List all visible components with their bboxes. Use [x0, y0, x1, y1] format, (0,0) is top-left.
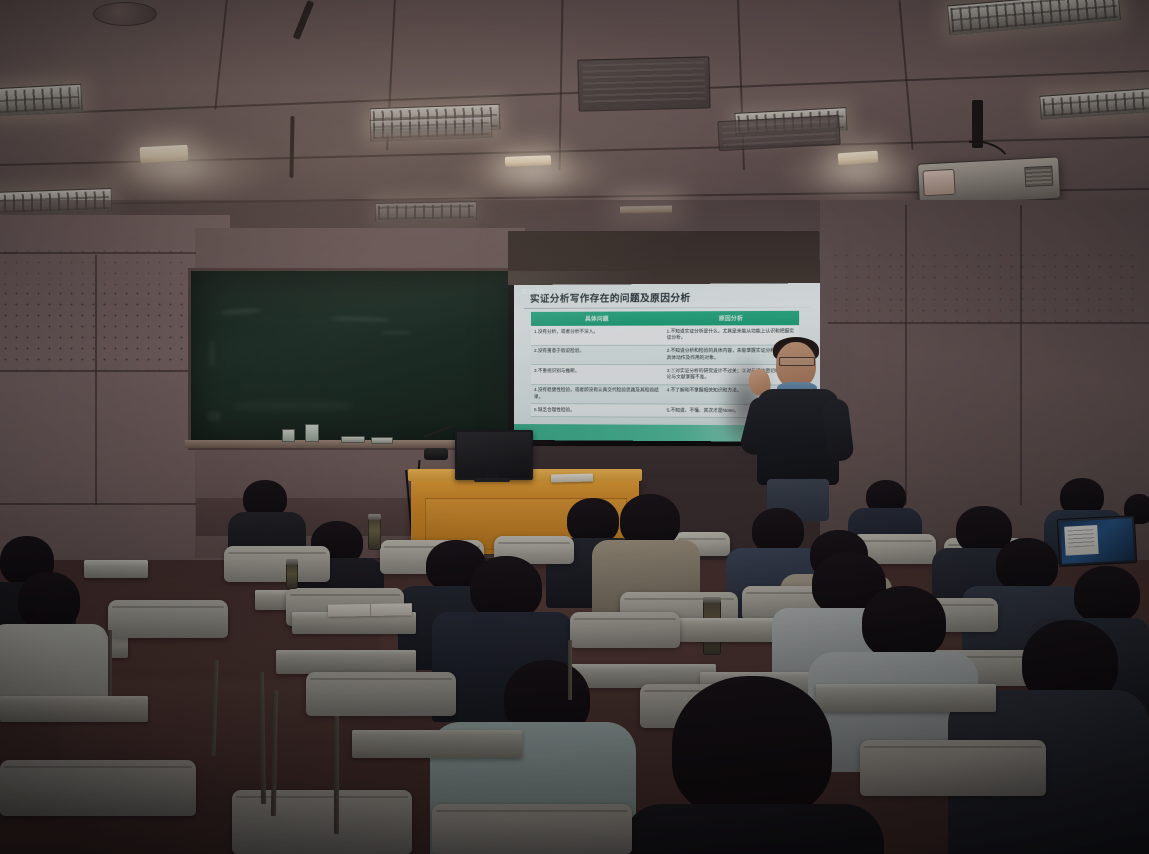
laptop-screen — [1060, 518, 1134, 564]
seat-back — [570, 612, 680, 648]
table-header-cause: 原因分析 — [664, 311, 800, 326]
ceiling-air-vent — [717, 115, 840, 151]
cell-problem: 2.没有重意于假说检验。 — [531, 345, 664, 365]
chalkboard — [188, 268, 516, 450]
bottle-icon — [286, 563, 298, 589]
laptop-icon — [1057, 515, 1137, 567]
laptop-document-window — [1064, 525, 1099, 555]
seat-back — [232, 790, 412, 854]
bottle-icon — [368, 518, 381, 550]
slide-title: 实证分析写作存在的问题及原因分析 — [530, 290, 691, 305]
ceiling-light-panel — [947, 0, 1121, 35]
open-notebook — [328, 603, 412, 616]
ceiling-light-panel — [370, 116, 493, 142]
glasses-icon — [779, 357, 815, 366]
audience-head — [470, 556, 542, 620]
seat-back — [224, 546, 330, 582]
ceiling-rod — [289, 116, 294, 178]
audience-head — [996, 538, 1058, 592]
cell-problem: 4.没有稳健性检验，或者即没有认真交代检验思路及其检验结果。 — [531, 384, 664, 404]
blackboard-eraser — [371, 437, 393, 444]
slide-title-divider — [524, 307, 811, 309]
desk — [0, 696, 148, 722]
chalk-box — [305, 424, 319, 442]
acoustic-panel-perforation — [830, 250, 1140, 322]
desk — [352, 730, 522, 758]
microphone-icon — [424, 448, 448, 460]
projector-vent — [1024, 166, 1053, 187]
audience-body — [622, 804, 884, 854]
blackboard-eraser — [341, 436, 365, 443]
seat-back — [432, 804, 632, 854]
desk — [816, 684, 996, 712]
table-header-problem: 具体问题 — [531, 311, 664, 326]
desk — [84, 560, 148, 578]
seat-back — [306, 672, 456, 716]
table-header-row: 具体问题 原因分析 — [531, 311, 799, 326]
desk — [276, 650, 416, 674]
chalk-box — [282, 429, 295, 442]
chair-leg — [334, 716, 339, 834]
audience-head — [18, 572, 80, 630]
ceiling-air-vent — [577, 56, 710, 111]
papers-on-lectern — [551, 473, 593, 482]
ceiling-speaker-icon — [93, 2, 157, 26]
projector-lens-icon — [922, 169, 955, 197]
audience-head — [1074, 566, 1140, 624]
lecture-hall-photo: 实证分析写作存在的问题及原因分析 具体问题 原因分析 1.没有分析，或者分析不深… — [0, 0, 1149, 854]
cell-problem: 1.没有分析，或者分析不深入。 — [531, 326, 664, 345]
chair-leg — [108, 630, 112, 696]
monitor-base — [474, 478, 510, 482]
presenter — [729, 337, 865, 519]
seat-back — [860, 740, 1046, 796]
projector-icon — [917, 156, 1061, 205]
audience-head — [672, 676, 832, 818]
slide-footer-label: 实证分析 — [522, 288, 546, 296]
monitor-icon — [455, 430, 533, 480]
ceiling-light-panel — [1039, 88, 1149, 120]
chair-leg — [568, 640, 572, 700]
screen-letterbox — [508, 231, 819, 285]
cell-problem: 5.缺乏合理性检验。 — [531, 404, 664, 417]
seat-back — [108, 600, 228, 638]
cell-problem: 3.不重视识别与推断。 — [531, 365, 664, 385]
audience-head — [862, 586, 946, 660]
seat-back — [0, 760, 196, 816]
ceiling-light-panel — [0, 84, 83, 117]
ceiling-rod — [293, 0, 314, 40]
